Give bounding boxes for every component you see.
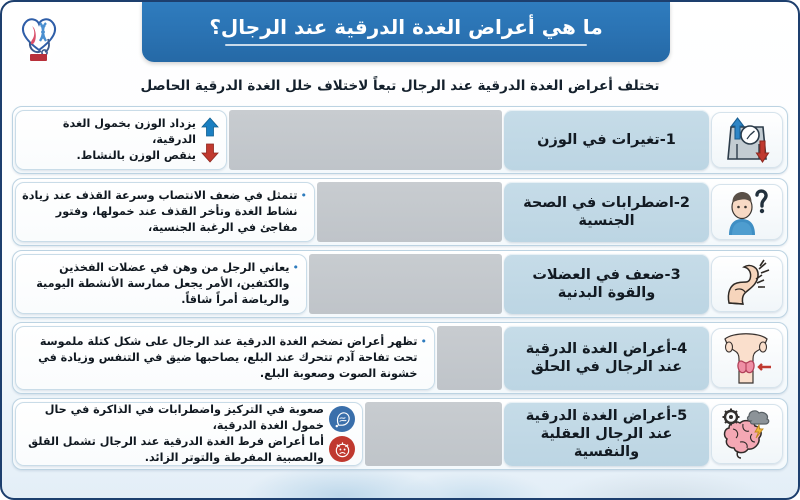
symptom-row: 1-تغيرات في الوزن يزداد الوزن بخمول الغد… [12, 106, 788, 174]
symptom-description-panel: صعوبة في التركيز واضطرابات في الذاكرة في… [15, 402, 363, 466]
symptom-description-line: أما أعراض فرط الغدة الدرقية عند الرجال ت… [21, 434, 324, 466]
bullet-icon: • [421, 334, 428, 350]
bullet-icon: • [301, 188, 308, 204]
header: ما هي أعراض الغدة الدرقية عند الرجال؟ [2, 2, 798, 74]
page-subtitle: تختلف أعراض الغدة الدرقية عند الرجال تبع… [2, 78, 798, 94]
symptom-row: 5-أعراض الغدة الدرقية عند الرجال العقلية… [12, 398, 788, 470]
symptom-label-panel: 3-ضعف في العضلات والقوة البدنية [504, 254, 709, 314]
gear-sub-icon [723, 409, 740, 426]
symptom-row: 2-اضطرابات في الصحة الجنسية • تتمثل في ض… [12, 178, 788, 246]
bullet-icon: • [293, 260, 300, 276]
weight-direction-arrows [201, 117, 219, 163]
title-bar: ما هي أعراض الغدة الدرقية عند الرجال؟ [142, 2, 670, 62]
spacer-panel [309, 254, 502, 314]
arrow-up-icon [201, 117, 219, 137]
symptom-description-panel: يزداد الوزن بخمول الغدة الدرقية، ينقص ال… [15, 110, 227, 170]
symptom-description-line: يزداد الوزن بخمول الغدة الدرقية، [21, 116, 196, 148]
spacer-panel [317, 182, 502, 242]
symptom-label: 3-ضعف في العضلات والقوة البدنية [512, 266, 701, 302]
symptom-description: تظهر أعراض تضخم الغدة الدرقية عند الرجال… [21, 334, 418, 382]
symptom-description-line: ينقص الوزن بالنشاط. [21, 148, 196, 164]
symptom-label-panel: 2-اضطرابات في الصحة الجنسية [504, 182, 709, 242]
spacer-panel [365, 402, 502, 466]
anxious-face-badge-icon [329, 436, 355, 462]
symptom-description: يعاني الرجل من وهن في عضلات الفخذين والك… [21, 260, 290, 308]
symptom-row: 3-ضعف في العضلات والقوة البدنية • يعاني … [12, 250, 788, 318]
symptom-label: 1-تغيرات في الوزن [537, 131, 676, 149]
title-underline [225, 44, 588, 46]
confused-head-badge-icon [329, 406, 355, 432]
person-question-icon [711, 184, 783, 240]
symptom-description-panel: • تتمثل في ضعف الانتصاب وسرعة القذف عند … [15, 182, 315, 242]
weight-scale-icon [711, 112, 783, 168]
spacer-panel [229, 110, 502, 170]
symptom-description-panel: • يعاني الرجل من وهن في عضلات الفخذين وا… [15, 254, 307, 314]
infographic-root: ما هي أعراض الغدة الدرقية عند الرجال؟ تخ… [0, 0, 800, 500]
neck-thyroid-gland-icon [711, 328, 783, 388]
brain-gear-cloud-icon [711, 404, 783, 464]
arrow-down-icon [201, 143, 219, 163]
symptom-label: 4-أعراض الغدة الدرقية عند الرجال في الحل… [512, 340, 701, 376]
symptom-label-panel: 1-تغيرات في الوزن [504, 110, 709, 170]
symptom-label-panel: 5-أعراض الغدة الدرقية عند الرجال العقلية… [504, 402, 709, 466]
page-title: ما هي أعراض الغدة الدرقية عند الرجال؟ [209, 16, 602, 39]
symptom-label: 5-أعراض الغدة الدرقية عند الرجال العقلية… [512, 407, 701, 461]
symptom-description-line: صعوبة في التركيز واضطرابات في الذاكرة في… [21, 402, 324, 434]
symptom-row: 4-أعراض الغدة الدرقية عند الرجال في الحل… [12, 322, 788, 394]
spacer-panel [437, 326, 502, 390]
mental-symptom-badges [329, 406, 355, 462]
flexing-arm-muscle-icon [711, 256, 783, 312]
heart-stethoscope-dna-logo-icon [8, 4, 70, 66]
symptom-rows: 1-تغيرات في الوزن يزداد الوزن بخمول الغد… [12, 106, 788, 470]
symptom-description: تتمثل في ضعف الانتصاب وسرعة القذف عند زي… [21, 188, 298, 236]
symptom-label-panel: 4-أعراض الغدة الدرقية عند الرجال في الحل… [504, 326, 709, 390]
symptom-description: يزداد الوزن بخمول الغدة الدرقية، ينقص ال… [21, 116, 196, 164]
symptom-label: 2-اضطرابات في الصحة الجنسية [512, 194, 701, 230]
symptom-description: صعوبة في التركيز واضطرابات في الذاكرة في… [21, 402, 324, 466]
symptom-description-panel: • تظهر أعراض تضخم الغدة الدرقية عند الرج… [15, 326, 435, 390]
